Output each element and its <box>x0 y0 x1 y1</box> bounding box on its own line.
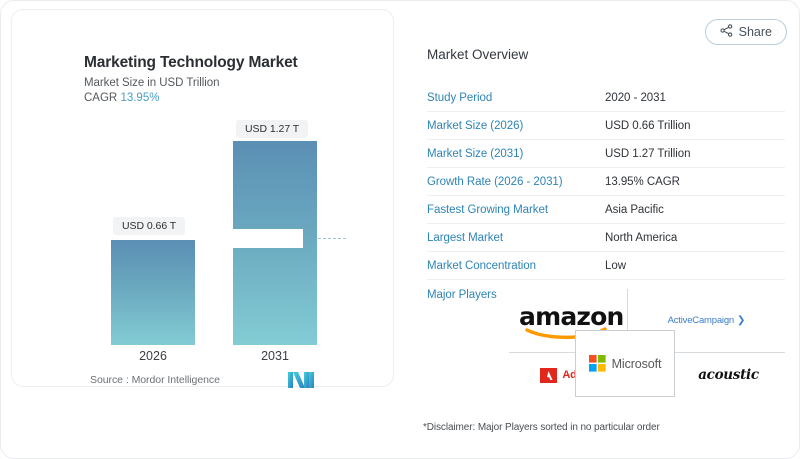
table-row: Largest Market North America <box>427 223 785 251</box>
microsoft-squares-icon <box>589 355 606 372</box>
row-key: Market Size (2026) <box>427 120 605 132</box>
row-value: USD 1.27 Trillion <box>605 148 690 160</box>
row-value: Low <box>605 260 626 272</box>
row-value: 2020 - 2031 <box>605 92 666 104</box>
chart-card: Marketing Technology Market Market Size … <box>11 9 394 387</box>
row-key: Growth Rate (2026 - 2031) <box>427 176 605 188</box>
share-button[interactable]: Share <box>705 19 787 45</box>
acoustic-wordmark: acoustic <box>698 367 759 383</box>
chevron-right-icon: ❯ <box>737 315 745 326</box>
value-label-2031: USD 1.27 T <box>236 120 308 138</box>
row-value: Asia Pacific <box>605 204 664 216</box>
table-row: Fastest Growing Market Asia Pacific <box>427 195 785 223</box>
player-logo-microsoft: Microsoft <box>575 330 675 397</box>
row-key: Largest Market <box>427 232 605 244</box>
mordor-intelligence-logo <box>288 372 314 393</box>
baseline-guide-dashed-line <box>318 238 346 239</box>
chart-source: Source : Mordor Intelligence <box>90 374 220 386</box>
row-value: North America <box>605 232 677 244</box>
row-value: USD 0.66 Trillion <box>605 120 690 132</box>
market-summary-page: Marketing Technology Market Market Size … <box>0 0 800 459</box>
activecampaign-wordmark: ActiveCampaign <box>668 315 734 326</box>
row-key: Market Concentration <box>427 260 605 272</box>
table-row: Study Period 2020 - 2031 <box>427 84 785 111</box>
player-logo-acoustic: acoustic <box>672 353 785 397</box>
table-row: Market Size (2031) USD 1.27 Trillion <box>427 139 785 167</box>
bar-2031-notch <box>233 229 303 248</box>
share-nodes-icon <box>720 24 733 40</box>
row-key: Study Period <box>427 92 605 104</box>
bar-chart-plot: USD 0.66 T USD 1.27 T 2026 2031 <box>12 10 395 388</box>
market-overview-table: Study Period 2020 - 2031 Market Size (20… <box>427 84 785 310</box>
value-label-2026: USD 0.66 T <box>113 217 185 235</box>
share-button-label: Share <box>739 25 772 39</box>
row-key: Market Size (2031) <box>427 148 605 160</box>
adobe-mark-icon <box>540 368 557 383</box>
table-row: Market Size (2026) USD 0.66 Trillion <box>427 111 785 139</box>
table-row: Growth Rate (2026 - 2031) 13.95% CAGR <box>427 167 785 195</box>
bar-2026 <box>111 240 195 345</box>
major-players-logo-grid: amazon ActiveCampaign ❯ Adobe acoustic <box>509 289 785 397</box>
disclaimer-text: *Disclaimer: Major Players sorted in no … <box>423 422 660 433</box>
row-value: 13.95% CAGR <box>605 176 680 188</box>
x-tick-2031: 2031 <box>233 349 317 363</box>
market-overview-title: Market Overview <box>427 47 528 62</box>
table-row: Market Concentration Low <box>427 251 785 279</box>
microsoft-wordmark: Microsoft <box>612 357 662 371</box>
row-key: Fastest Growing Market <box>427 204 605 216</box>
x-tick-2026: 2026 <box>111 349 195 363</box>
